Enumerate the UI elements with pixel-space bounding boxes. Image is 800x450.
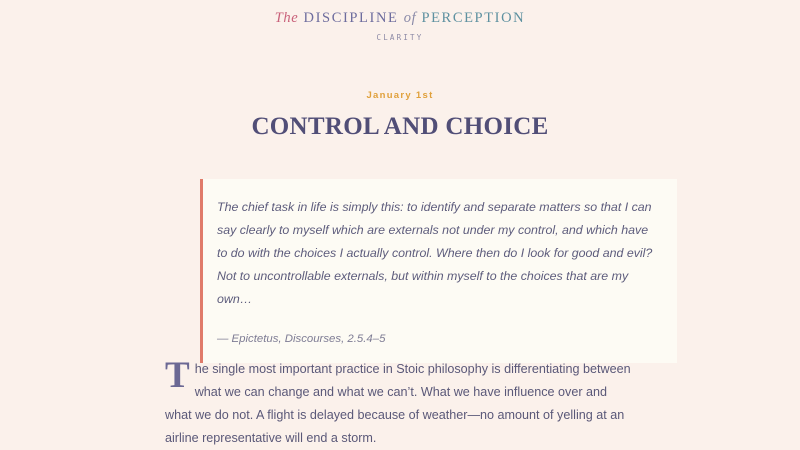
entry-date: January 1st bbox=[0, 91, 800, 101]
masthead: The DISCIPLINE of PERCEPTION CLARITY bbox=[0, 0, 800, 41]
masthead-word-of: of bbox=[404, 10, 416, 26]
masthead-word-perception: PERCEPTION bbox=[421, 10, 525, 26]
masthead-word-discipline: DISCIPLINE bbox=[304, 10, 399, 26]
body-paragraph: The single most important practice in St… bbox=[165, 358, 637, 450]
entry-header: January 1st CONTROL AND CHOICE bbox=[0, 91, 800, 139]
body-paragraph-text: he single most important practice in Sto… bbox=[165, 362, 631, 445]
body-copy: The single most important practice in St… bbox=[165, 358, 637, 450]
drop-cap: T bbox=[165, 359, 195, 392]
page-title: CONTROL AND CHOICE bbox=[0, 114, 800, 139]
daily-reading-page: The DISCIPLINE of PERCEPTION CLARITY Jan… bbox=[0, 0, 800, 450]
masthead-word-the: The bbox=[275, 10, 299, 26]
quotation-text: The chief task in life is simply this: t… bbox=[217, 196, 657, 311]
masthead-subtitle: CLARITY bbox=[0, 34, 800, 42]
masthead-title: The DISCIPLINE of PERCEPTION bbox=[0, 11, 800, 26]
quotation-block: The chief task in life is simply this: t… bbox=[200, 179, 677, 363]
quotation-attribution: — Epictetus, Discourses, 2.5.4–5 bbox=[217, 332, 657, 347]
